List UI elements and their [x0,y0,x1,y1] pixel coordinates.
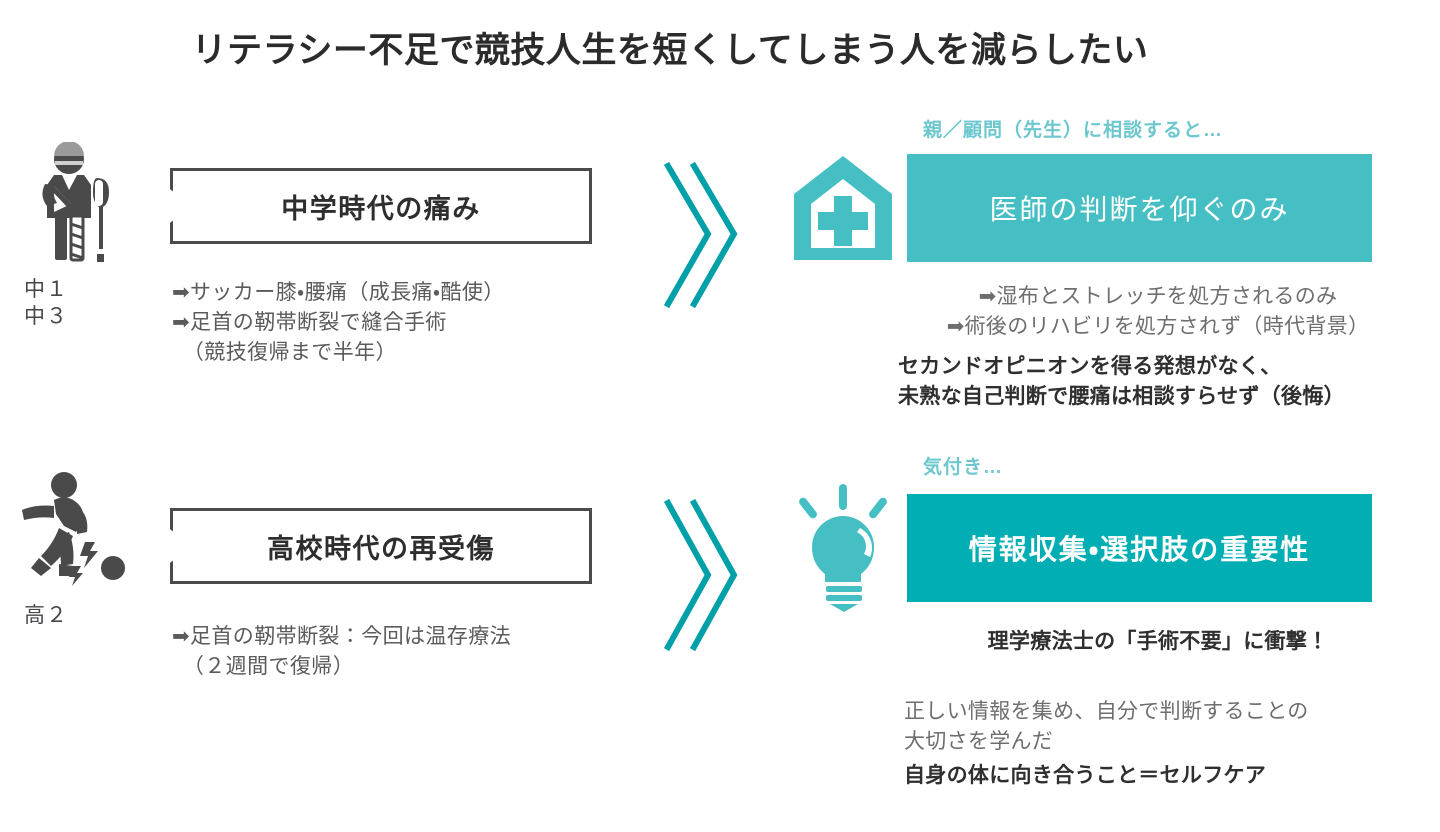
page-title: リテラシー不足で競技人生を短くしてしまう人を減らしたい [0,22,1340,73]
double-chevron-right-icon-1 [652,158,762,318]
notes-light-high-school: 正しい情報を集め、自分で判断することの 大切さを学んだ [904,697,1440,758]
stage-label-junior-high: 中１ 中３ [6,277,156,331]
result-bar-label: 情報収集・選択肢の重要性 [969,528,1311,568]
notes-light-junior-high: ➡湿布とストレッチを処方されるのみ ➡術後のリハビリを処方されず（時代背景） [880,282,1436,343]
hospital-icon [788,152,898,269]
soccer-player-icon-column: 高２ [6,470,156,630]
bullets-junior-high: ➡サッカー膝・腰痛（成長痛・酷使） ➡足首の靭帯断裂で縫合手術 （競技復帰まで半… [172,278,642,367]
soccer-player-injury-icon [21,470,141,598]
banner-high-school: 高校時代の再受傷 [170,508,592,584]
notes-bold-junior-high: セカンドオピニオンを得る発想がなく、 未熟な自己判断で腰痛は相談すらせず（後悔） [898,352,1440,413]
notes-bold-high-school: 自身の体に向き合うこと＝セルフケア [904,761,1440,791]
result-bar-junior-high: 医師の判断を仰ぐのみ [907,154,1372,262]
injured-person-icon-column: 中１ 中３ [6,142,156,331]
kicker-junior-high: 親／顧問（先生）に相談すると… [923,115,1223,142]
bullets-high-school: ➡足首の靭帯断裂：今回は温存療法 （２週間で復帰） [172,622,642,682]
double-chevron-right-icon-2 [652,495,762,660]
notes-bold-top-high-school: 理学療法士の「手術不要」に衝撃！ [880,627,1436,657]
kicker-high-school: 気付き… [923,452,1003,479]
banner-label: 高校時代の再受傷 [267,527,495,566]
result-bar-high-school: 情報収集・選択肢の重要性 [907,494,1372,602]
injured-person-crutch-icon [21,142,141,272]
banner-junior-high: 中学時代の痛み [170,168,592,244]
banner-label: 中学時代の痛み [281,187,481,226]
result-bar-label: 医師の判断を仰ぐのみ [989,188,1289,228]
lightbulb-icon [790,482,898,617]
stage-label-high-school: 高２ [6,603,156,630]
slide-canvas: リテラシー不足で競技人生を短くしてしまう人を減らしたい [0,0,1440,832]
